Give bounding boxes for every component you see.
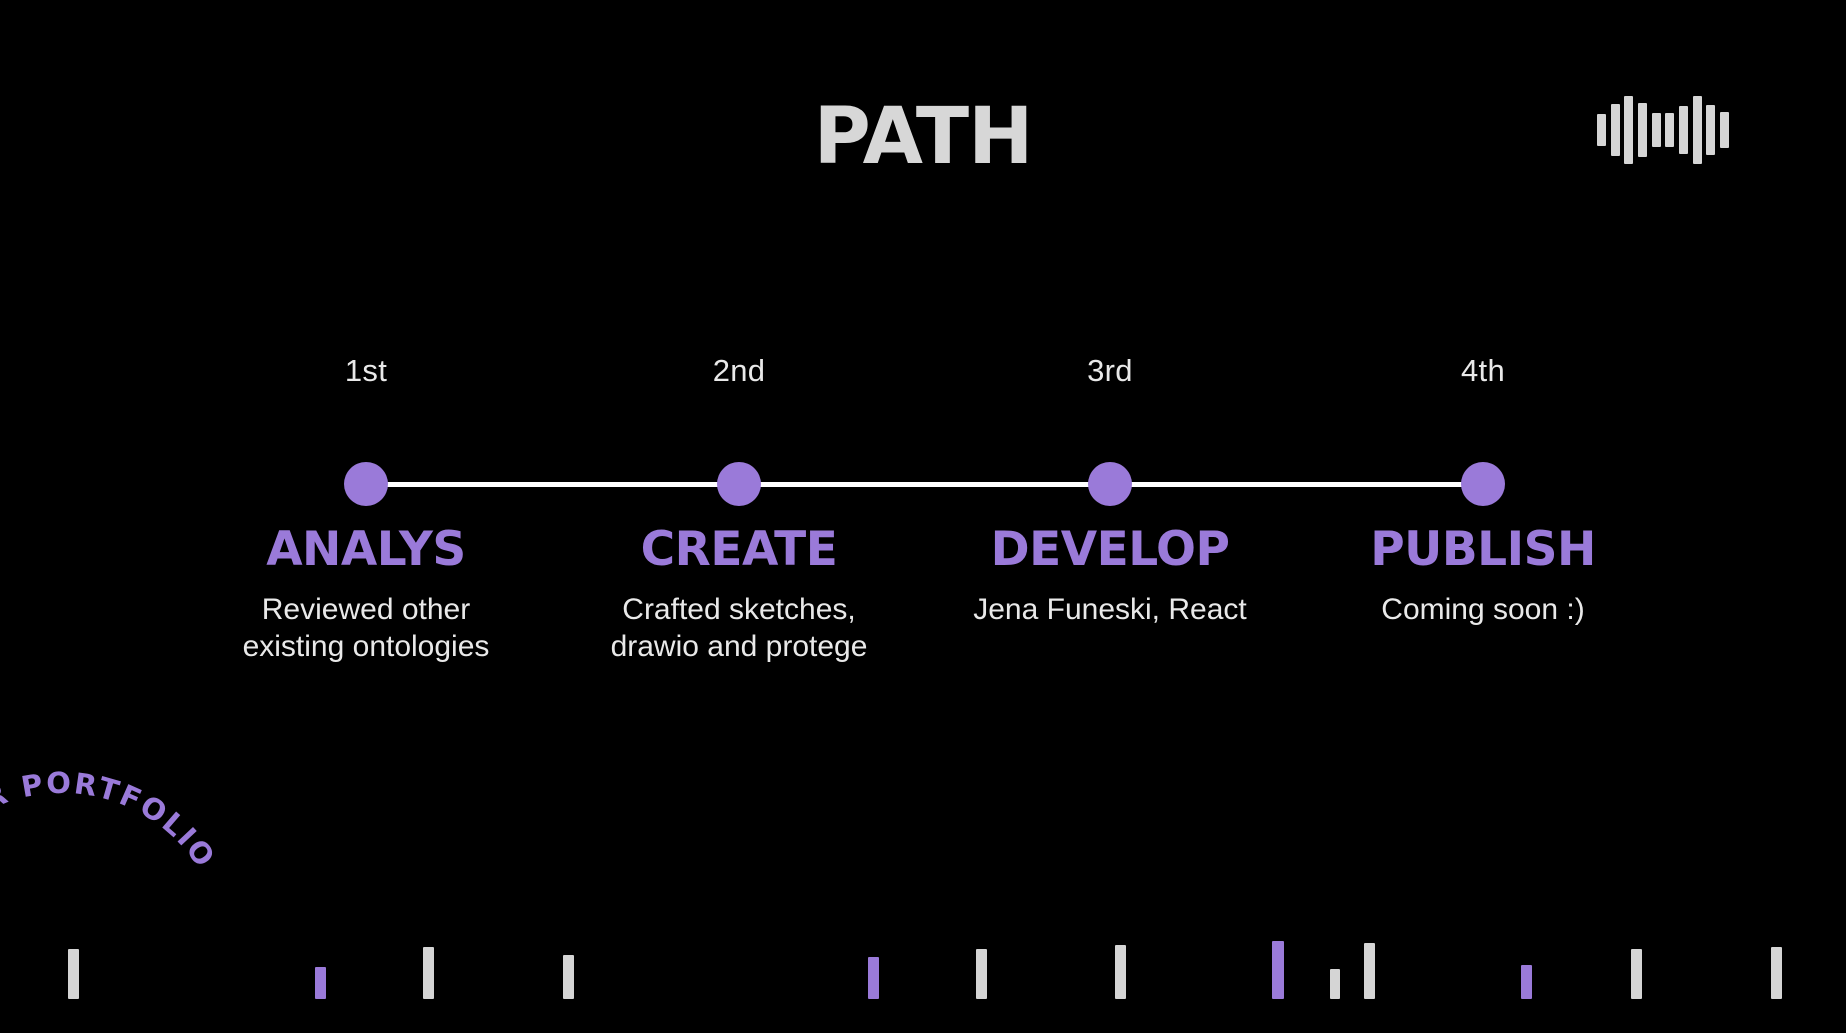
timeline-step-4[interactable]: 4thPUBLISHComing soon :) [1388,355,1578,386]
waveform-bar-2 [1611,104,1620,156]
bottom-bar-10 [1364,943,1375,999]
waveform-bar-1 [1597,114,1606,146]
step-dot[interactable] [717,462,761,506]
bottom-bar-3 [423,947,434,999]
slide-root: PATH 1stANALYSReviewed other existing on… [0,0,1846,1033]
step-heading: CREATE [569,526,909,573]
timeline-track [366,482,1483,487]
waveform-bar-10 [1720,112,1729,148]
step-ordinal: 1st [271,355,461,386]
step-description: Crafted sketches, drawio and protege [594,592,884,665]
bottom-bar-2 [315,967,326,999]
waveform-bar-6 [1665,113,1674,147]
timeline-step-2[interactable]: 2ndCREATECrafted sketches, drawio and pr… [644,355,834,386]
waveform-icon [1597,95,1729,165]
waveform-bar-4 [1638,103,1647,157]
step-dot[interactable] [1461,462,1505,506]
bottom-bar-8 [1272,941,1284,999]
step-description: Reviewed other existing ontologies [221,592,511,665]
bottom-bar-4 [563,955,574,999]
bottom-bar-12 [1631,949,1642,999]
step-description: Coming soon :) [1338,592,1628,629]
waveform-bar-7 [1679,106,1688,154]
timeline-step-3[interactable]: 3rdDEVELOPJena Funeski, React [1015,355,1205,386]
timeline: 1stANALYSReviewed other existing ontolog… [0,355,1846,685]
step-ordinal: 4th [1388,355,1578,386]
step-dot[interactable] [344,462,388,506]
step-heading: PUBLISH [1313,526,1653,573]
decorative-bar-strip [0,913,1846,1033]
bottom-bar-5 [868,957,879,999]
step-ordinal: 2nd [644,355,834,386]
bottom-bar-6 [976,949,987,999]
badge-text: ENGINEER PORTFOLIO [0,766,223,936]
waveform-bar-9 [1706,105,1715,155]
waveform-bar-5 [1652,113,1661,147]
timeline-step-1[interactable]: 1stANALYSReviewed other existing ontolog… [271,355,461,386]
bottom-bar-1 [68,949,79,999]
bottom-bar-9 [1330,969,1340,999]
page-title: PATH [0,98,1846,176]
step-heading: DEVELOP [940,526,1280,573]
bottom-bar-11 [1521,965,1532,999]
waveform-bar-3 [1624,96,1633,164]
bottom-bar-7 [1115,945,1126,999]
step-ordinal: 3rd [1015,355,1205,386]
step-heading: ANALYS [196,526,536,573]
step-dot[interactable] [1088,462,1132,506]
waveform-bar-8 [1693,96,1702,164]
step-description: Jena Funeski, React [965,592,1255,629]
bottom-bar-13 [1771,947,1782,999]
